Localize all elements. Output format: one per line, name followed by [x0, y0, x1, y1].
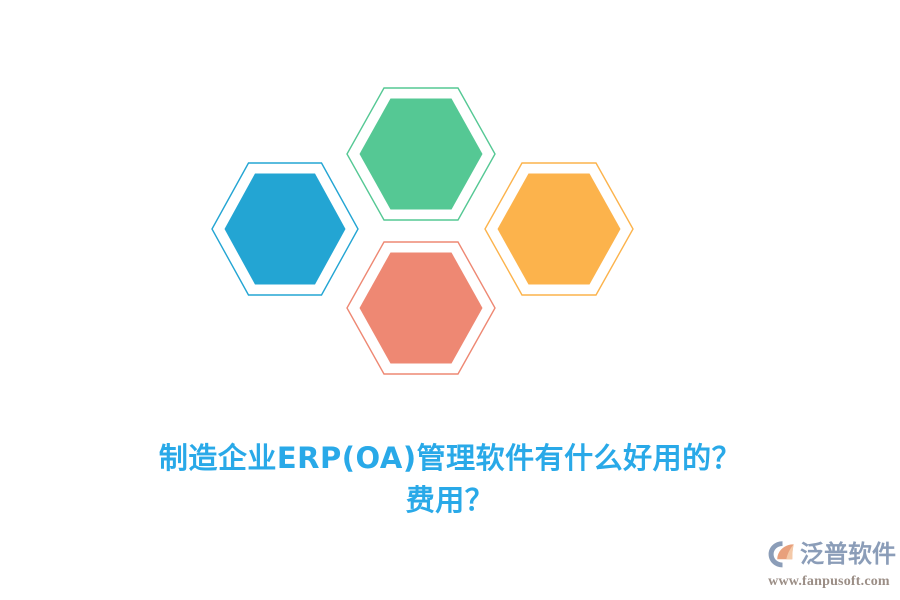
fanpu-logo-icon	[766, 538, 798, 570]
honeycomb-graphic	[0, 0, 900, 430]
brand-logo-row: 泛普软件	[766, 536, 892, 572]
hex-blue-fill	[225, 174, 346, 285]
brand-url: www.fanpusoft.com	[766, 573, 892, 590]
poster-canvas: 制造企业ERP(OA)管理软件有什么好用的？ 费用？ 泛普软件 www.fanp…	[0, 0, 900, 600]
hex-orange	[485, 163, 633, 295]
page-title-line-2: 费用？	[0, 479, 900, 521]
fanpu-logo-svg	[766, 538, 798, 570]
hex-salmon-fill	[360, 253, 483, 364]
hex-green	[347, 88, 495, 220]
hex-blue	[212, 163, 358, 295]
page-title-line-1: 制造企业ERP(OA)管理软件有什么好用的？	[0, 437, 900, 479]
hex-green-fill	[360, 99, 483, 210]
page-title: 制造企业ERP(OA)管理软件有什么好用的？ 费用？	[0, 437, 900, 521]
hex-salmon	[347, 242, 495, 374]
brand-name: 泛普软件	[800, 539, 896, 569]
honeycomb-svg	[0, 0, 900, 430]
brand-watermark: 泛普软件 www.fanpusoft.com	[766, 536, 892, 594]
hex-orange-fill	[498, 174, 621, 285]
